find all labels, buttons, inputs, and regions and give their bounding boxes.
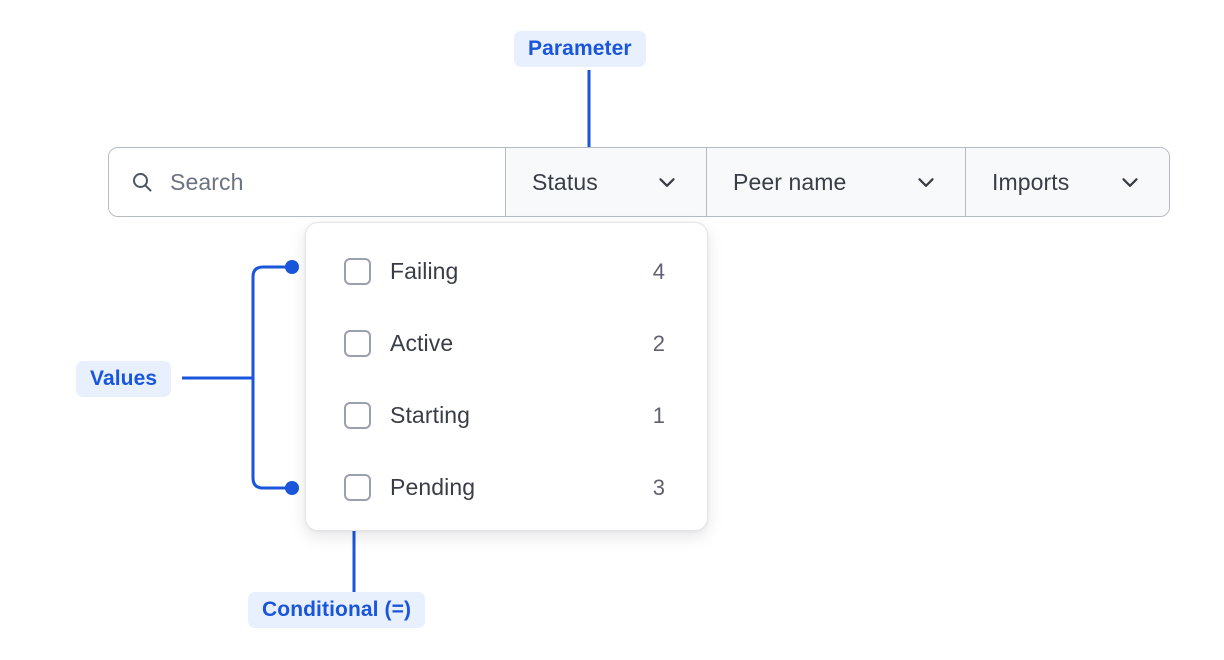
filter-segment-status[interactable]: Status [505, 148, 706, 216]
annotation-label-conditional: Conditional (=) [248, 592, 425, 628]
filter-segment-imports[interactable]: Imports [965, 148, 1169, 216]
list-item[interactable]: Failing 4 [306, 249, 707, 294]
list-item[interactable]: Starting 1 [306, 393, 707, 438]
filter-segment-peer-name-label: Peer name [733, 169, 846, 196]
chevron-down-icon[interactable] [1117, 169, 1143, 195]
status-dropdown-panel: Failing 4 Active 2 Starting 1 Pending 3 [305, 222, 708, 531]
chevron-down-icon[interactable] [913, 169, 939, 195]
filter-segment-imports-label: Imports [992, 169, 1069, 196]
checkbox-starting[interactable] [344, 402, 371, 429]
list-item-count: 3 [653, 475, 665, 501]
annotation-label-parameter: Parameter [514, 31, 646, 67]
chevron-down-icon[interactable] [654, 169, 680, 195]
filter-segment-peer-name[interactable]: Peer name [706, 148, 965, 216]
checkbox-active[interactable] [344, 330, 371, 357]
search-input-placeholder[interactable]: Search [170, 169, 243, 196]
list-item-count: 1 [653, 403, 665, 429]
filter-bar: Search Status Peer name Imports [108, 147, 1170, 217]
checkbox-failing[interactable] [344, 258, 371, 285]
search-field[interactable]: Search [109, 148, 505, 216]
list-item-label: Pending [390, 474, 475, 501]
list-item-count: 4 [653, 259, 665, 285]
list-item-label: Starting [390, 402, 470, 429]
search-icon [130, 170, 154, 194]
connector-values [182, 260, 299, 495]
list-item[interactable]: Active 2 [306, 321, 707, 366]
annotation-label-values: Values [76, 361, 171, 397]
list-item-label: Active [390, 330, 453, 357]
list-item-label: Failing [390, 258, 458, 285]
list-item[interactable]: Pending 3 [306, 465, 707, 510]
list-item-count: 2 [653, 331, 665, 357]
checkbox-pending[interactable] [344, 474, 371, 501]
filter-segment-status-label: Status [532, 169, 598, 196]
